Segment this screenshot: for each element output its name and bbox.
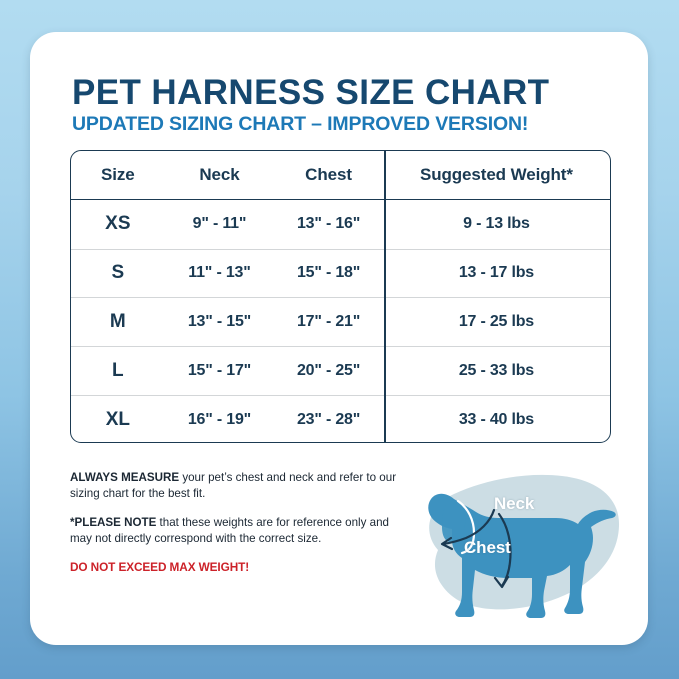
cell-weight: 17 - 25 lbs [383,313,610,331]
size-table: Size Neck Chest Suggested Weight* XS 9" … [70,150,611,443]
cell-neck: 15" - 17" [165,362,275,380]
column-header-size: Size [71,165,165,185]
content-card: PET HARNESS SIZE CHART UPDATED SIZING CH… [30,32,648,645]
table-row: L 15" - 17" 20" - 25" 25 - 33 lbs [71,346,610,395]
cell-chest: 23" - 28" [274,411,383,429]
cell-weight: 13 - 17 lbs [383,264,610,282]
table-row: S 11" - 13" 15" - 18" 13 - 17 lbs [71,249,610,298]
chest-label: Chest [464,538,511,558]
cell-size: XL [71,409,165,431]
cell-chest: 13" - 16" [274,215,383,233]
cell-size: M [71,311,165,333]
cell-size: L [71,360,165,382]
cell-size: S [71,262,165,284]
cell-size: XS [71,213,165,235]
note-please-note-bold: *PLEASE NOTE [70,516,156,529]
cell-chest: 20" - 25" [274,362,383,380]
note-always-measure-bold: ALWAYS MEASURE [70,471,179,484]
cell-weight: 9 - 13 lbs [383,215,610,233]
cell-weight: 25 - 33 lbs [383,362,610,380]
column-header-neck: Neck [165,165,275,185]
page-subtitle: UPDATED SIZING CHART – IMPROVED VERSION! [72,115,617,135]
page-title: PET HARNESS SIZE CHART [72,75,617,110]
column-header-chest: Chest [274,165,383,185]
cell-neck: 16" - 19" [165,411,275,429]
dog-measurement-illustration: Neck Chest [402,454,627,629]
size-chart-page: PET HARNESS SIZE CHART UPDATED SIZING CH… [0,0,679,679]
cell-neck: 11" - 13" [165,264,275,282]
cell-neck: 13" - 15" [165,313,275,331]
note-please-note: *PLEASE NOTE that these weights are for … [70,515,400,548]
note-always-measure: ALWAYS MEASURE your pet’s chest and neck… [70,470,400,503]
column-header-weight: Suggested Weight* [383,165,610,185]
table-row: M 13" - 15" 17" - 21" 17 - 25 lbs [71,297,610,346]
table-row: XL 16" - 19" 23" - 28" 33 - 40 lbs [71,395,610,443]
table-header-row: Size Neck Chest Suggested Weight* [71,151,610,200]
cell-chest: 17" - 21" [274,313,383,331]
footer-notes: ALWAYS MEASURE your pet’s chest and neck… [70,470,400,574]
cell-chest: 15" - 18" [274,264,383,282]
table-vertical-divider [384,151,386,442]
warning-max-weight: DO NOT EXCEED MAX WEIGHT! [70,560,400,574]
cell-weight: 33 - 40 lbs [383,411,610,429]
table-row: XS 9" - 11" 13" - 16" 9 - 13 lbs [71,200,610,249]
neck-label: Neck [494,494,534,514]
cell-neck: 9" - 11" [165,215,275,233]
header: PET HARNESS SIZE CHART UPDATED SIZING CH… [72,75,617,135]
